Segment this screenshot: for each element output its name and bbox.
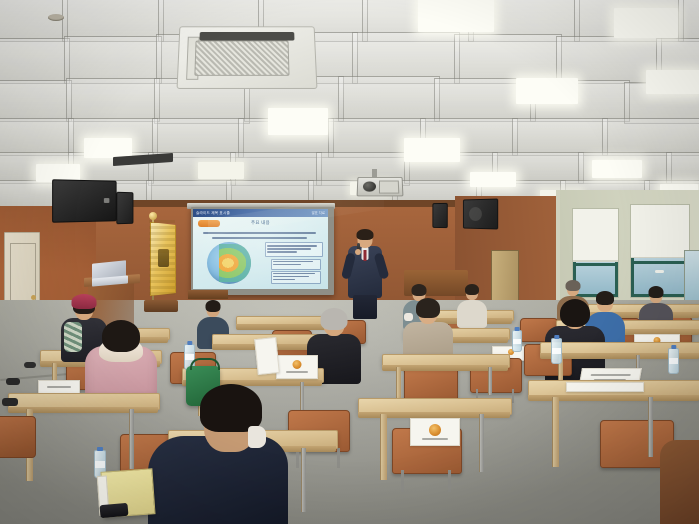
- attendee-navy-front: [148, 388, 288, 524]
- slide-header-tag: 발표 자료: [312, 210, 325, 216]
- slide-header-text: 슬라이드 제목 표시줄: [196, 210, 230, 216]
- presenter-hand: [355, 249, 361, 255]
- window-far: [684, 250, 699, 302]
- face-mask: [248, 426, 266, 448]
- ceiling-light-panel: [404, 138, 460, 162]
- bag-strap: [190, 358, 220, 370]
- slide-header-bar: 슬라이드 제목 표시줄 발표 자료: [193, 209, 328, 217]
- presenter-tie: [364, 250, 367, 261]
- patterned-scarf: [64, 322, 82, 352]
- chair-caster: [24, 362, 36, 368]
- flag-finial-icon: [149, 212, 157, 220]
- ceiling-air-conditioner: [177, 26, 318, 89]
- ceiling-light-panel: [516, 78, 578, 104]
- speaker-right-large: [463, 198, 498, 229]
- desk: [8, 393, 158, 408]
- handout-paper[interactable]: [276, 355, 318, 379]
- projection-screen: 슬라이드 제목 표시줄 발표 자료 주요 내용: [191, 207, 334, 295]
- handout-paper[interactable]: [410, 418, 460, 446]
- water-bottle[interactable]: [512, 330, 522, 352]
- slide-title: 주요 내용: [193, 220, 328, 226]
- lecture-hall-photo: 슬라이드 제목 표시줄 발표 자료 주요 내용: [0, 0, 699, 524]
- presenter: [345, 231, 385, 317]
- ceiling-light-panel: [418, 0, 494, 32]
- foreground-partial-person-right: [660, 440, 699, 524]
- smartphone[interactable]: [99, 503, 128, 518]
- water-bottle[interactable]: [668, 348, 679, 374]
- smoke-detector-icon: [48, 14, 64, 21]
- ceiling-light-panel: [470, 172, 516, 187]
- handout-paper[interactable]: [566, 382, 644, 392]
- water-bottle[interactable]: [551, 338, 562, 364]
- display-logo-icon: [104, 198, 110, 203]
- ceiling-light-panel: [614, 8, 678, 38]
- desk: [382, 354, 508, 366]
- red-beanie-hat: [72, 294, 97, 309]
- projector-body: [379, 181, 399, 194]
- chair-caster: [2, 398, 18, 406]
- presentation-slide: 슬라이드 제목 표시줄 발표 자료 주요 내용: [193, 209, 328, 289]
- flag-stand: [144, 300, 178, 312]
- attendee-white-top: [456, 286, 488, 326]
- speaker-right-small: [432, 203, 447, 228]
- flag-emblem-icon: [158, 249, 169, 267]
- ac-grille: [194, 41, 289, 76]
- ceiling-light-panel: [268, 108, 328, 135]
- wall-mounted-display: [52, 179, 116, 223]
- ac-vane: [200, 32, 295, 41]
- window-latch-icon: [655, 270, 664, 273]
- presenter-hair: [357, 229, 374, 240]
- speaker-left: [116, 192, 133, 224]
- roller-blind[interactable]: [631, 205, 689, 259]
- ceremonial-flag: [150, 222, 176, 296]
- roller-blind[interactable]: [573, 209, 618, 262]
- ceiling-light-panel: [592, 160, 642, 178]
- face-mask: [404, 313, 413, 321]
- diagram-cutaway: [219, 244, 251, 282]
- side-table: [188, 290, 228, 299]
- chair-partial-left: [0, 416, 36, 458]
- earth-layers-diagram: [207, 242, 251, 284]
- standing-papers[interactable]: [254, 337, 280, 375]
- projector-lens-icon: [363, 181, 376, 191]
- chair[interactable]: [404, 366, 456, 400]
- window-right: [630, 204, 690, 298]
- ceiling-light-panel: [198, 162, 244, 179]
- ceiling-light-panel: [646, 70, 699, 94]
- ceiling-projector: [357, 177, 404, 196]
- ceiling-light-panel: [84, 138, 132, 158]
- desk: [358, 398, 510, 413]
- chair-caster: [6, 378, 20, 385]
